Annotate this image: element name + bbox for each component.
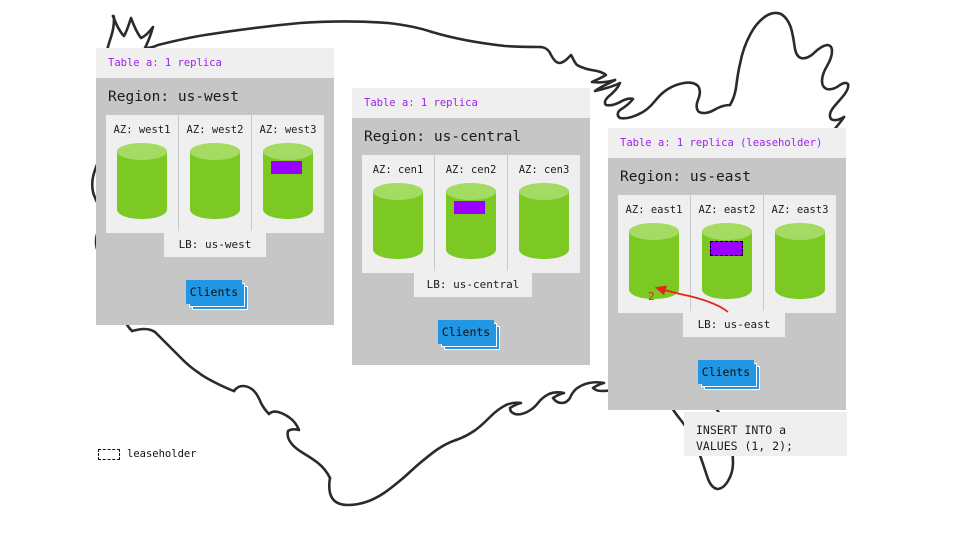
az-cell-east3[interactable]: AZ: east3 bbox=[764, 195, 836, 313]
replica-block-west3[interactable] bbox=[271, 161, 302, 174]
az-cell-west3[interactable]: AZ: west3 bbox=[252, 115, 324, 233]
az-label-west3: AZ: west3 bbox=[260, 124, 317, 136]
cylinder-top bbox=[519, 183, 569, 200]
az-label-east1: AZ: east1 bbox=[626, 204, 683, 216]
clients-label-us-central[interactable]: Clients bbox=[438, 320, 494, 344]
az-label-cen3: AZ: cen3 bbox=[519, 164, 570, 176]
az-container-us-central: AZ: cen1 AZ: cen2 AZ: cen3 bbox=[362, 155, 580, 273]
az-cell-west2[interactable]: AZ: west2 bbox=[179, 115, 252, 233]
region-title-us-west: Region: us-west bbox=[96, 78, 334, 115]
dashed-rectangle-icon bbox=[98, 449, 120, 460]
az-label-east3: AZ: east3 bbox=[772, 204, 829, 216]
sql-statement-box: INSERT INTO a VALUES (1, 2); bbox=[684, 412, 847, 456]
node-cylinder-cen3[interactable] bbox=[519, 183, 569, 259]
node-cylinder-west1[interactable] bbox=[117, 143, 167, 219]
cylinder-body bbox=[629, 231, 679, 299]
region-title-us-central: Region: us-central bbox=[352, 118, 590, 155]
node-cylinder-cen2[interactable] bbox=[446, 183, 496, 259]
az-label-west2: AZ: west2 bbox=[187, 124, 244, 136]
legend-label: leaseholder bbox=[127, 448, 197, 460]
clients-label-us-west[interactable]: Clients bbox=[186, 280, 242, 304]
cylinder-body bbox=[519, 191, 569, 259]
panel-header-us-central: Table a: 1 replica bbox=[352, 88, 590, 118]
node-cylinder-cen1[interactable] bbox=[373, 183, 423, 259]
load-balancer-us-central[interactable]: LB: us-central bbox=[414, 271, 532, 297]
panel-header-us-east: Table a: 1 replica (leaseholder) bbox=[608, 128, 846, 158]
az-container-us-west: AZ: west1 AZ: west2 AZ: west3 bbox=[106, 115, 324, 233]
cylinder-top bbox=[263, 143, 313, 160]
cylinder-body bbox=[775, 231, 825, 299]
load-balancer-us-west[interactable]: LB: us-west bbox=[164, 231, 266, 257]
node-cylinder-west2[interactable] bbox=[190, 143, 240, 219]
cylinder-top bbox=[775, 223, 825, 240]
region-panel-us-central[interactable]: Table a: 1 replica Region: us-central AZ… bbox=[352, 88, 590, 365]
cylinder-top bbox=[446, 183, 496, 200]
az-label-east2: AZ: east2 bbox=[699, 204, 756, 216]
node-cylinder-east1[interactable] bbox=[629, 223, 679, 299]
replica-block-east2-leaseholder[interactable] bbox=[710, 241, 743, 256]
cylinder-top bbox=[190, 143, 240, 160]
node-cylinder-east3[interactable] bbox=[775, 223, 825, 299]
node-cylinder-west3[interactable] bbox=[263, 143, 313, 219]
diagram-canvas: Table a: 1 replica Region: us-west AZ: w… bbox=[0, 0, 960, 540]
clients-stack-us-east[interactable]: Clients bbox=[698, 360, 760, 390]
load-balancer-us-east[interactable]: LB: us-east bbox=[683, 311, 785, 337]
cylinder-body bbox=[190, 151, 240, 219]
annotation-label-step-2: 2 bbox=[648, 290, 655, 303]
az-cell-cen3[interactable]: AZ: cen3 bbox=[508, 155, 580, 273]
cylinder-top bbox=[373, 183, 423, 200]
legend-leaseholder: leaseholder bbox=[98, 448, 197, 460]
cylinder-top bbox=[629, 223, 679, 240]
clients-label-us-east[interactable]: Clients bbox=[698, 360, 754, 384]
az-cell-west1[interactable]: AZ: west1 bbox=[106, 115, 179, 233]
clients-stack-us-central[interactable]: Clients bbox=[438, 320, 500, 350]
az-cell-cen2[interactable]: AZ: cen2 bbox=[435, 155, 508, 273]
az-cell-east2[interactable]: AZ: east2 bbox=[691, 195, 764, 313]
az-cell-cen1[interactable]: AZ: cen1 bbox=[362, 155, 435, 273]
region-panel-us-east[interactable]: Table a: 1 replica (leaseholder) Region:… bbox=[608, 128, 846, 410]
az-label-cen1: AZ: cen1 bbox=[373, 164, 424, 176]
az-label-cen2: AZ: cen2 bbox=[446, 164, 497, 176]
panel-header-us-west: Table a: 1 replica bbox=[96, 48, 334, 78]
cylinder-top bbox=[702, 223, 752, 240]
cylinder-body bbox=[373, 191, 423, 259]
replica-block-cen2[interactable] bbox=[454, 201, 485, 214]
az-label-west1: AZ: west1 bbox=[114, 124, 171, 136]
region-title-us-east: Region: us-east bbox=[608, 158, 846, 195]
node-cylinder-east2[interactable] bbox=[702, 223, 752, 299]
cylinder-body bbox=[117, 151, 167, 219]
clients-stack-us-west[interactable]: Clients bbox=[186, 280, 248, 310]
region-panel-us-west[interactable]: Table a: 1 replica Region: us-west AZ: w… bbox=[96, 48, 334, 325]
cylinder-top bbox=[117, 143, 167, 160]
